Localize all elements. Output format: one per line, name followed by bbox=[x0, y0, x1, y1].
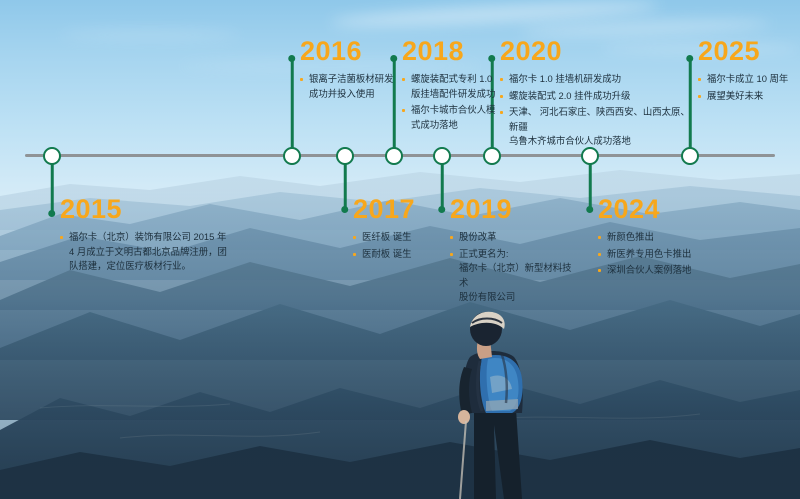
list-item: 天津、 河北石家庄、陕西西安、山西太原、新疆 乌鲁木齐城市合伙人成功落地 bbox=[500, 105, 690, 149]
year-label-2025: 2025 bbox=[698, 38, 798, 65]
year-label-2016: 2016 bbox=[300, 38, 400, 65]
list-item: 股份改革 bbox=[450, 230, 575, 245]
timeline-node-2016[interactable] bbox=[283, 147, 301, 165]
list-item: 新医养专用色卡推出 bbox=[598, 247, 728, 262]
timeline-stem-2015 bbox=[51, 164, 54, 214]
year-label-2018: 2018 bbox=[402, 38, 507, 65]
timeline-entry-2017: 2017 医纤板 诞生 医耐板 诞生 bbox=[353, 196, 443, 263]
year-label-2024: 2024 bbox=[598, 196, 728, 223]
list-item: 福尔卡城市合伙人模 式成功落地 bbox=[402, 103, 507, 132]
list-item: 正式更名为: 福尔卡（北京）新型材料技术 股份有限公司 bbox=[450, 247, 575, 305]
year-label-2017: 2017 bbox=[353, 196, 443, 223]
bullet-list-2019: 股份改革 正式更名为: 福尔卡（北京）新型材料技术 股份有限公司 bbox=[450, 230, 575, 305]
list-item: 医耐板 诞生 bbox=[353, 247, 443, 262]
timeline-node-2015[interactable] bbox=[43, 147, 61, 165]
year-label-2019: 2019 bbox=[450, 196, 575, 223]
timeline-entry-2016: 2016 银离子洁菌板材研发 成功并投入使用 bbox=[300, 38, 400, 103]
timeline-stem-2024 bbox=[589, 164, 592, 210]
bullet-list-2015: 福尔卡（北京）装饰有限公司 2015 年 4 月成立于文明古都北京品牌注册，团 … bbox=[60, 230, 235, 274]
timeline-entry-2020: 2020 福尔卡 1.0 挂墙机研发成功 螺旋装配式 2.0 挂件成功升级 天津… bbox=[500, 38, 690, 151]
timeline-entry-2018: 2018 螺旋装配式专利 1.0 版挂墙配件研发成功 福尔卡城市合伙人模 式成功… bbox=[402, 38, 507, 134]
timeline-node-2020[interactable] bbox=[483, 147, 501, 165]
timeline-stem-2017 bbox=[344, 164, 347, 210]
list-item: 医纤板 诞生 bbox=[353, 230, 443, 245]
bullet-list-2024: 新颜色推出 新医养专用色卡推出 深圳合伙人案例落地 bbox=[598, 230, 728, 278]
bullet-list-2016: 银离子洁菌板材研发 成功并投入使用 bbox=[300, 72, 400, 101]
timeline-infographic: 2015 福尔卡（北京）装饰有限公司 2015 年 4 月成立于文明古都北京品牌… bbox=[0, 0, 800, 499]
bullet-list-2020: 福尔卡 1.0 挂墙机研发成功 螺旋装配式 2.0 挂件成功升级 天津、 河北石… bbox=[500, 72, 690, 149]
bullet-list-2018: 螺旋装配式专利 1.0 版挂墙配件研发成功 福尔卡城市合伙人模 式成功落地 bbox=[402, 72, 507, 132]
list-item: 福尔卡 1.0 挂墙机研发成功 bbox=[500, 72, 690, 87]
year-label-2015: 2015 bbox=[60, 196, 235, 223]
timeline-stem-2016 bbox=[291, 58, 294, 148]
list-item: 展望美好未来 bbox=[698, 89, 798, 104]
timeline-entry-2019: 2019 股份改革 正式更名为: 福尔卡（北京）新型材料技术 股份有限公司 bbox=[450, 196, 575, 307]
list-item: 深圳合伙人案例落地 bbox=[598, 263, 728, 278]
list-item: 螺旋装配式专利 1.0 版挂墙配件研发成功 bbox=[402, 72, 507, 101]
list-item: 螺旋装配式 2.0 挂件成功升级 bbox=[500, 89, 690, 104]
timeline-entry-2025: 2025 福尔卡成立 10 周年 展望美好未来 bbox=[698, 38, 798, 105]
timeline-node-2017[interactable] bbox=[336, 147, 354, 165]
timeline-node-2018[interactable] bbox=[385, 147, 403, 165]
bullet-list-2017: 医纤板 诞生 医耐板 诞生 bbox=[353, 230, 443, 261]
timeline-entry-2015: 2015 福尔卡（北京）装饰有限公司 2015 年 4 月成立于文明古都北京品牌… bbox=[60, 196, 235, 276]
timeline-entry-2024: 2024 新颜色推出 新医养专用色卡推出 深圳合伙人案例落地 bbox=[598, 196, 728, 280]
hiker-figure bbox=[430, 305, 550, 499]
timeline-node-2019[interactable] bbox=[433, 147, 451, 165]
bullet-list-2025: 福尔卡成立 10 周年 展望美好未来 bbox=[698, 72, 798, 103]
year-label-2020: 2020 bbox=[500, 38, 690, 65]
list-item: 银离子洁菌板材研发 成功并投入使用 bbox=[300, 72, 400, 101]
list-item: 新颜色推出 bbox=[598, 230, 728, 245]
list-item: 福尔卡（北京）装饰有限公司 2015 年 4 月成立于文明古都北京品牌注册，团 … bbox=[60, 230, 235, 274]
list-item: 福尔卡成立 10 周年 bbox=[698, 72, 798, 87]
